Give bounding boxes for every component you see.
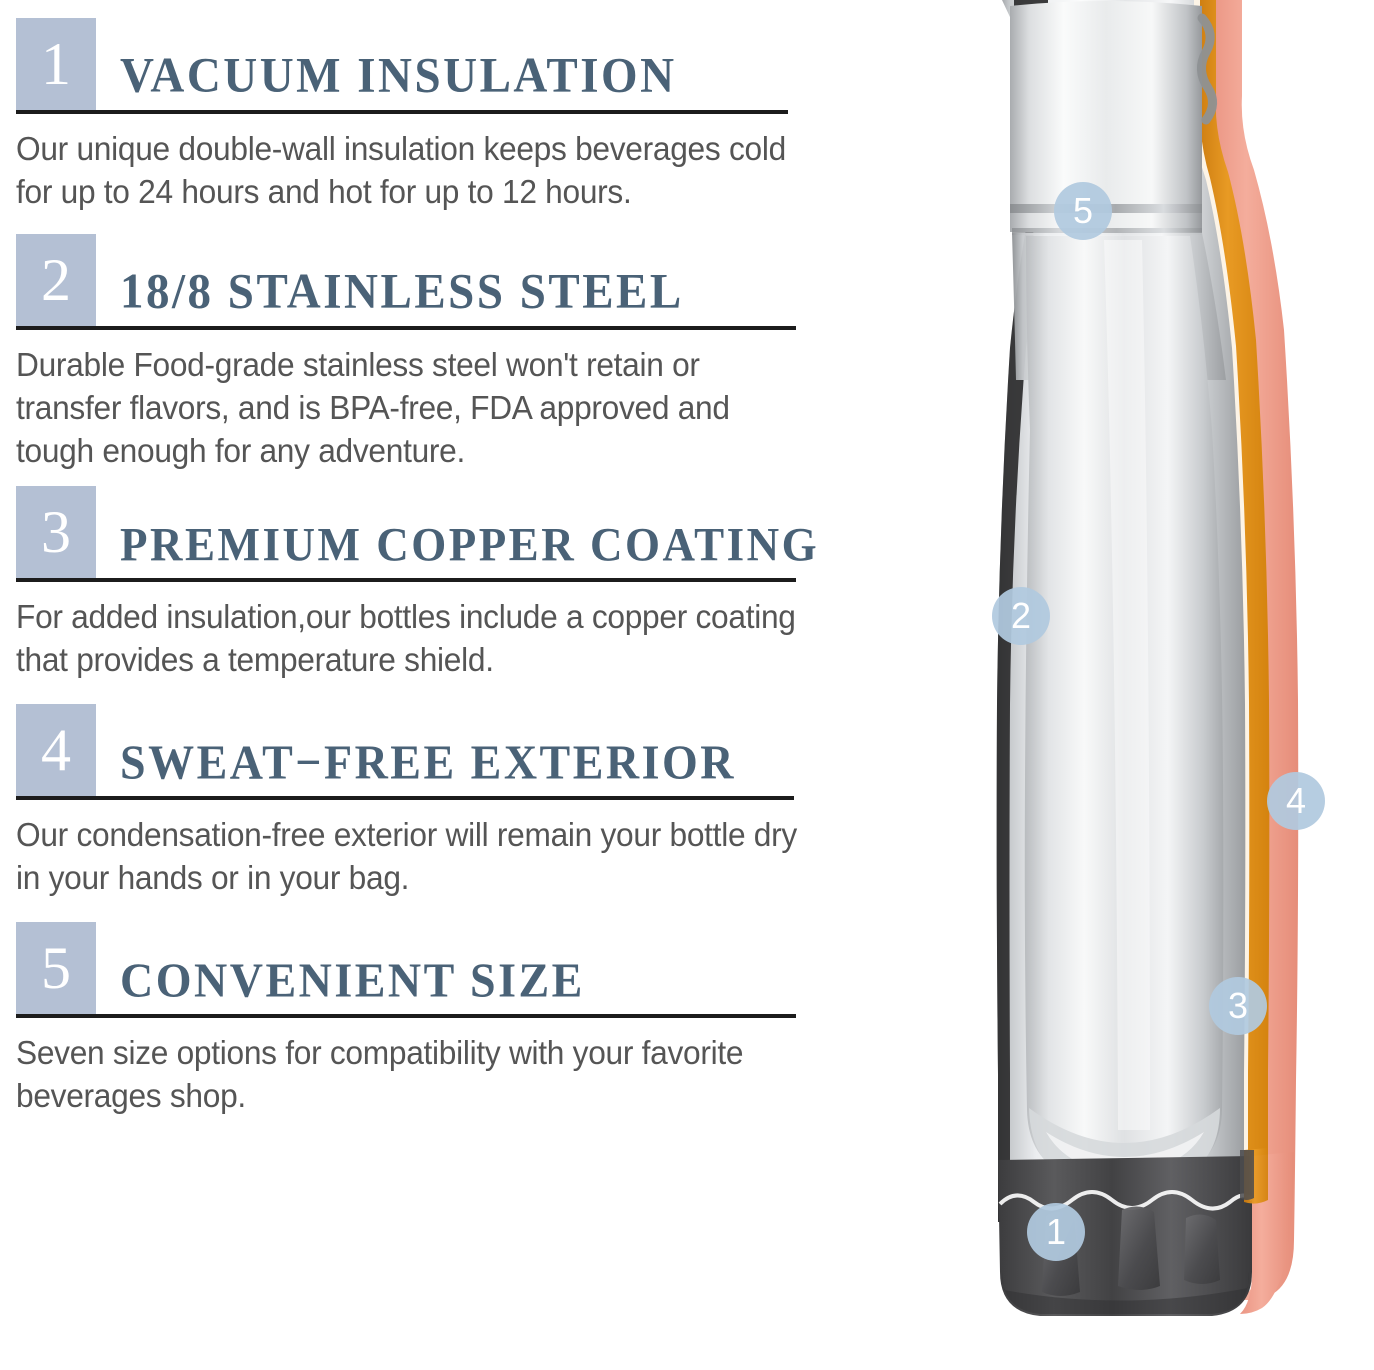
feature-body-3: For added insulation,our bottles include… bbox=[16, 596, 801, 682]
feature-title-5: CONVENIENT SIZE bbox=[120, 952, 585, 1008]
bottle-callout-2[interactable]: 2 bbox=[992, 587, 1050, 645]
feature-item-copper-coating: 3 PREMIUM COPPER COATING For added insul… bbox=[8, 486, 880, 682]
bottle-callout-5[interactable]: 5 bbox=[1054, 182, 1112, 240]
feature-number-badge-4: 4 bbox=[16, 704, 96, 796]
feature-item-sweat-free-exterior: 4 SWEAT−FREE EXTERIOR Our condensation-f… bbox=[8, 704, 880, 900]
feature-number-badge-2: 2 bbox=[16, 234, 96, 326]
feature-title-4: SWEAT−FREE EXTERIOR bbox=[120, 734, 736, 790]
bottle-callout-1[interactable]: 1 bbox=[1027, 1203, 1085, 1261]
feature-header: 5 CONVENIENT SIZE bbox=[8, 922, 880, 1014]
feature-divider-5 bbox=[16, 1014, 796, 1018]
feature-item-convenient-size: 5 CONVENIENT SIZE Seven size options for… bbox=[8, 922, 880, 1118]
bottle-callout-4[interactable]: 4 bbox=[1267, 772, 1325, 830]
feature-list: 1 VACUUM INSULATION Our unique double-wa… bbox=[0, 0, 880, 1370]
base-nub-right bbox=[1184, 1214, 1220, 1284]
bottle-cutaway-illustration: 5 2 4 3 1 bbox=[954, 0, 1374, 1370]
feature-item-vacuum-insulation: 1 VACUUM INSULATION Our unique double-wa… bbox=[8, 18, 880, 214]
feature-title-3: PREMIUM COPPER COATING bbox=[120, 517, 819, 572]
feature-number-badge-3: 3 bbox=[16, 486, 96, 578]
feature-title-2: 18/8 STAINLESS STEEL bbox=[120, 263, 684, 320]
feature-number-badge-1: 1 bbox=[16, 18, 96, 110]
base-right-notch bbox=[1240, 1150, 1254, 1200]
feature-header: 1 VACUUM INSULATION bbox=[8, 18, 880, 110]
feature-body-1: Our unique double-wall insulation keeps … bbox=[16, 128, 801, 214]
feature-body-2: Durable Food-grade stainless steel won't… bbox=[16, 344, 801, 473]
feature-divider-3 bbox=[16, 578, 796, 582]
feature-header: 2 18/8 STAINLESS STEEL bbox=[8, 234, 880, 326]
feature-body-4: Our condensation-free exterior will rema… bbox=[16, 814, 801, 900]
base-nub-center bbox=[1118, 1206, 1160, 1290]
feature-divider-1 bbox=[16, 110, 788, 114]
bottle-svg bbox=[954, 0, 1374, 1370]
feature-item-stainless-steel: 2 18/8 STAINLESS STEEL Durable Food-grad… bbox=[8, 234, 880, 473]
bottle-callout-3[interactable]: 3 bbox=[1209, 977, 1267, 1035]
feature-divider-4 bbox=[16, 796, 794, 800]
feature-divider-2 bbox=[16, 326, 796, 330]
feature-title-1: VACUUM INSULATION bbox=[120, 47, 677, 104]
feature-body-5: Seven size options for compatibility wit… bbox=[16, 1032, 801, 1118]
feature-header: 4 SWEAT−FREE EXTERIOR bbox=[8, 704, 880, 796]
feature-header: 3 PREMIUM COPPER COATING bbox=[8, 486, 880, 578]
feature-number-badge-5: 5 bbox=[16, 922, 96, 1014]
